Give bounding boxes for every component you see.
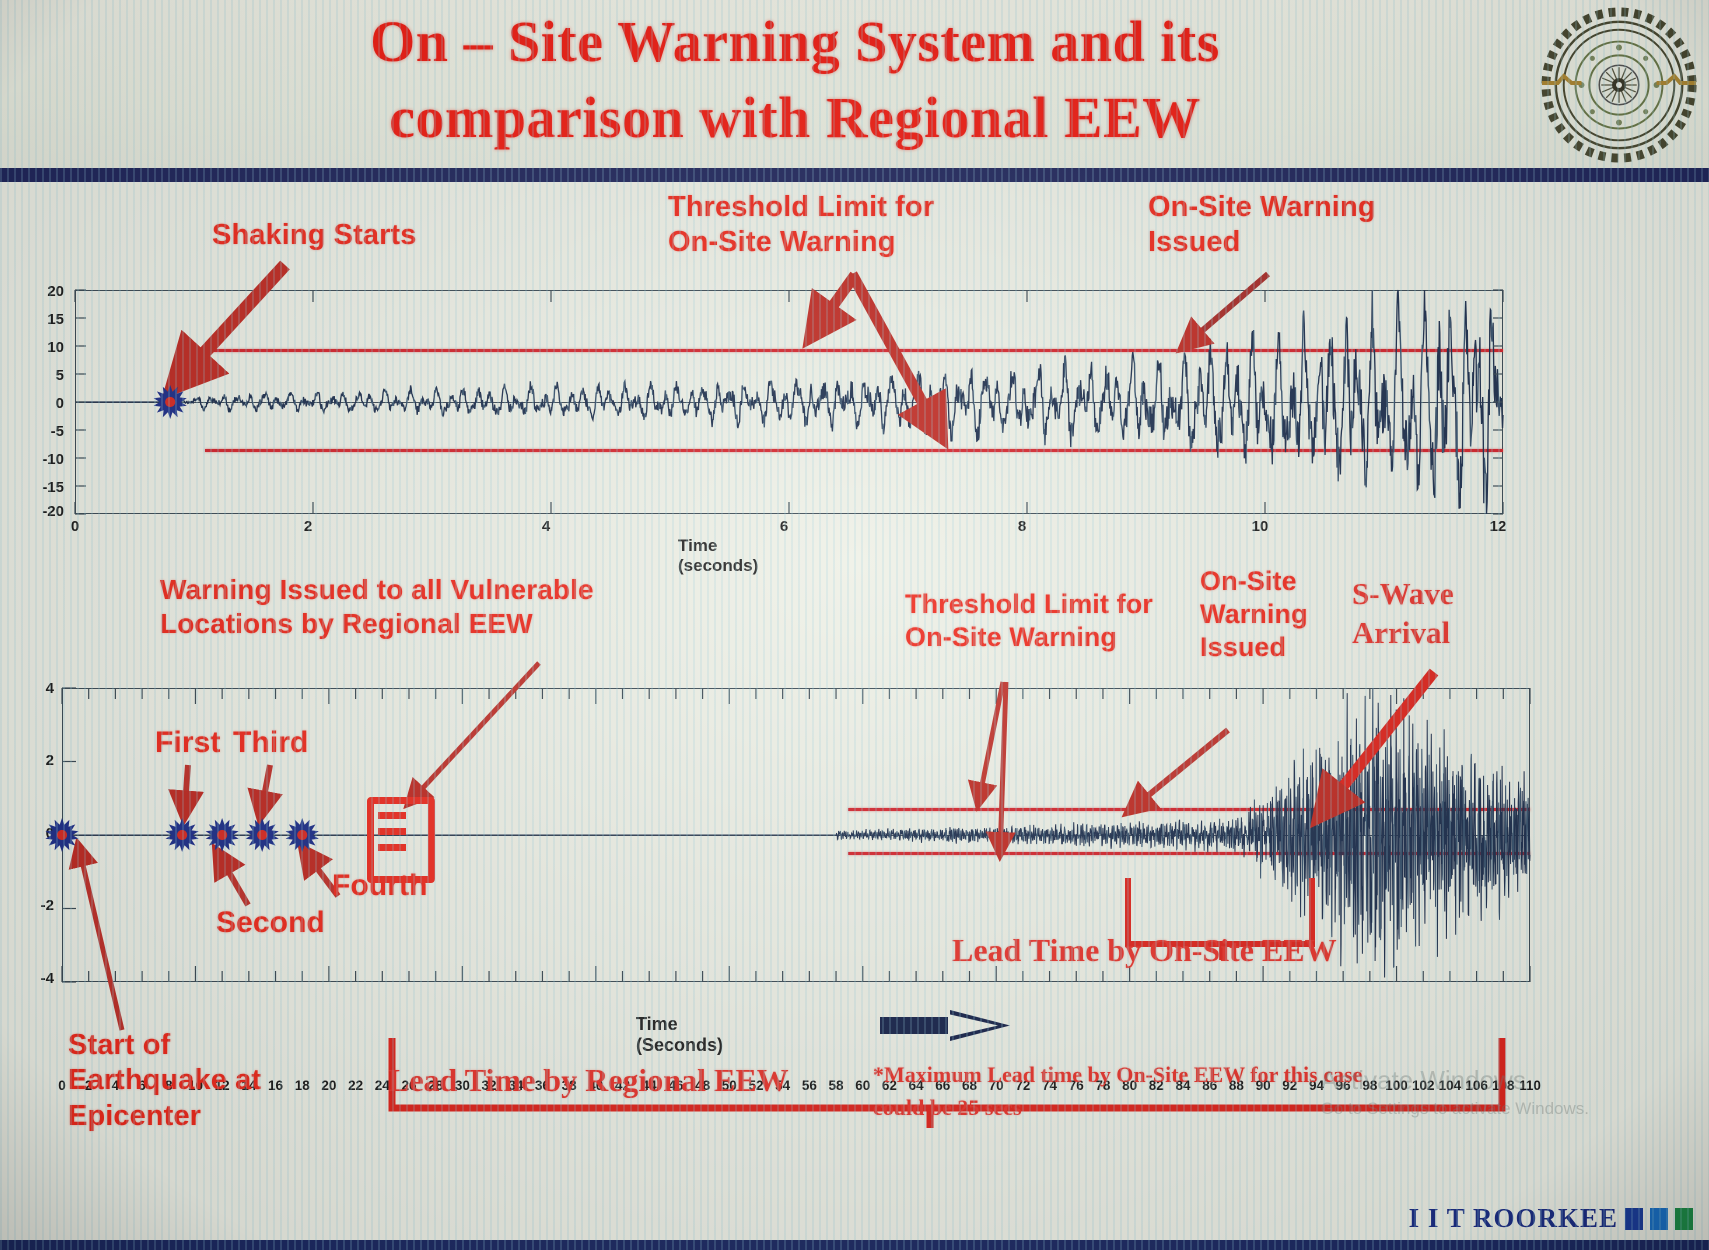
top-xtick-0: 0 bbox=[60, 518, 90, 535]
anno-first: First bbox=[155, 725, 221, 762]
anno-regional-warning-l2: Locations by Regional EEW bbox=[160, 607, 594, 641]
anno-warning-issued-bottom-l3: Issued bbox=[1200, 631, 1308, 664]
anno-third: Third bbox=[233, 725, 309, 762]
top-xtick-4: 4 bbox=[531, 518, 561, 535]
anno-threshold-limit-bottom-l1: Threshold Limit for bbox=[905, 588, 1153, 621]
top-ytick--15: -15 bbox=[30, 479, 64, 496]
anno-start-of-eq-l1: Start of bbox=[68, 1028, 261, 1063]
anno-threshold-limit-top-l1: Threshold Limit for bbox=[668, 190, 934, 225]
brand-square-1 bbox=[1625, 1208, 1643, 1230]
anno-lead-time-regional: Lead Time by Regional EEW bbox=[388, 1060, 789, 1100]
anno-footnote: *Maximum Lead time by On-Site EEW for th… bbox=[873, 1058, 1362, 1124]
top-ytick-5: 5 bbox=[30, 367, 64, 384]
anno-s-wave-arrival: S-Wave Arrival bbox=[1352, 575, 1454, 653]
anno-footnote-l1: *Maximum Lead time by On-Site EEW for th… bbox=[873, 1058, 1362, 1091]
top-ytick-0: 0 bbox=[30, 395, 64, 412]
watermark-line-2: Go to Settings to activate Windows. bbox=[1321, 1098, 1589, 1120]
time-direction-arrow bbox=[880, 1010, 1010, 1041]
anno-start-of-earthquake: Start of Earthquake at Epicenter bbox=[68, 1028, 261, 1134]
bottom-ytick-2: 2 bbox=[20, 752, 54, 769]
brand-square-3 bbox=[1675, 1208, 1693, 1230]
top-xtick-10: 10 bbox=[1245, 518, 1275, 535]
title-line-2: comparison with Regional EEW bbox=[150, 80, 1440, 156]
bottom-xtick-58: 58 bbox=[821, 1078, 851, 1093]
top-ytick--20: -20 bbox=[30, 503, 64, 520]
top-ytick-20: 20 bbox=[30, 283, 64, 300]
anno-regional-warning: Warning Issued to all Vulnerable Locatio… bbox=[160, 573, 594, 641]
header-divider bbox=[0, 168, 1709, 182]
slide-canvas: On – Site Warning System and its compari… bbox=[0, 0, 1709, 1250]
bottom-threshold-upper bbox=[848, 808, 1530, 811]
top-xaxis-label: Time (seconds) bbox=[678, 536, 758, 576]
bottom-xtick-16: 16 bbox=[261, 1078, 291, 1093]
top-zero-line bbox=[75, 402, 1503, 403]
anno-footnote-l2: could be 25 secs bbox=[873, 1091, 1362, 1124]
anno-lead-time-onsite: Lead Time by On-Site EEW bbox=[952, 930, 1337, 970]
anno-warning-issued-top-l1: On-Site Warning bbox=[1148, 190, 1376, 225]
bottom-ytick-0: 0 bbox=[20, 825, 54, 842]
anno-warning-issued-bottom: On-Site Warning Issued bbox=[1200, 565, 1308, 664]
brand-square-2 bbox=[1650, 1208, 1668, 1230]
anno-threshold-limit-top: Threshold Limit for On-Site Warning bbox=[668, 190, 934, 261]
anno-s-wave-l2: Arrival bbox=[1352, 614, 1454, 653]
top-xtick-2: 2 bbox=[293, 518, 323, 535]
top-threshold-upper bbox=[205, 349, 1503, 352]
anno-threshold-limit-bottom-l2: On-Site Warning bbox=[905, 621, 1153, 654]
bottom-xtick-20: 20 bbox=[314, 1078, 344, 1093]
top-threshold-lower bbox=[205, 449, 1503, 452]
iit-roorkee-brand: I I T ROORKEE bbox=[1409, 1203, 1693, 1234]
anno-shaking-starts: Shaking Starts bbox=[212, 218, 416, 253]
footer-bar bbox=[0, 1240, 1709, 1250]
windows-activation-watermark: Activate Windows Go to Settings to activ… bbox=[1321, 1064, 1589, 1120]
bottom-xtick-22: 22 bbox=[341, 1078, 371, 1093]
top-xtick-8: 8 bbox=[1007, 518, 1037, 535]
anno-start-of-eq-l3: Epicenter bbox=[68, 1099, 261, 1134]
regional-warning-box-icon bbox=[367, 797, 435, 883]
anno-warning-issued-top: On-Site Warning Issued bbox=[1148, 190, 1376, 261]
anno-warning-issued-top-l2: Issued bbox=[1148, 225, 1376, 260]
anno-second: Second bbox=[216, 905, 325, 942]
anno-threshold-limit-bottom: Threshold Limit for On-Site Warning bbox=[905, 588, 1153, 654]
bottom-xtick-18: 18 bbox=[287, 1078, 317, 1093]
bottom-zero-line bbox=[62, 835, 1530, 836]
iit-roorkee-emblem-icon bbox=[1539, 6, 1699, 164]
top-xtick-12: 12 bbox=[1483, 518, 1513, 535]
top-ytick-15: 15 bbox=[30, 311, 64, 328]
anno-s-wave-l1: S-Wave bbox=[1352, 575, 1454, 614]
watermark-line-1: Activate Windows bbox=[1321, 1064, 1589, 1098]
bottom-xaxis-label: Time (Seconds) bbox=[636, 1014, 723, 1056]
bottom-ytick--4: -4 bbox=[20, 970, 54, 987]
brand-text: I I T ROORKEE bbox=[1409, 1203, 1618, 1234]
anno-warning-issued-bottom-l1: On-Site bbox=[1200, 565, 1308, 598]
anno-threshold-limit-top-l2: On-Site Warning bbox=[668, 225, 934, 260]
top-ytick--10: -10 bbox=[30, 451, 64, 468]
top-ytick--5: -5 bbox=[30, 423, 64, 440]
bottom-threshold-lower bbox=[848, 852, 1530, 855]
bottom-xtick-56: 56 bbox=[794, 1078, 824, 1093]
anno-start-of-eq-l2: Earthquake at bbox=[68, 1063, 261, 1098]
top-ytick-10: 10 bbox=[30, 339, 64, 356]
title-line-1: On – Site Warning System and its bbox=[150, 4, 1440, 80]
bottom-ytick--2: -2 bbox=[20, 897, 54, 914]
page-title: On – Site Warning System and its compari… bbox=[150, 4, 1440, 164]
anno-regional-warning-l1: Warning Issued to all Vulnerable bbox=[160, 573, 594, 607]
top-xtick-6: 6 bbox=[769, 518, 799, 535]
bottom-ytick-4: 4 bbox=[20, 680, 54, 697]
anno-warning-issued-bottom-l2: Warning bbox=[1200, 598, 1308, 631]
